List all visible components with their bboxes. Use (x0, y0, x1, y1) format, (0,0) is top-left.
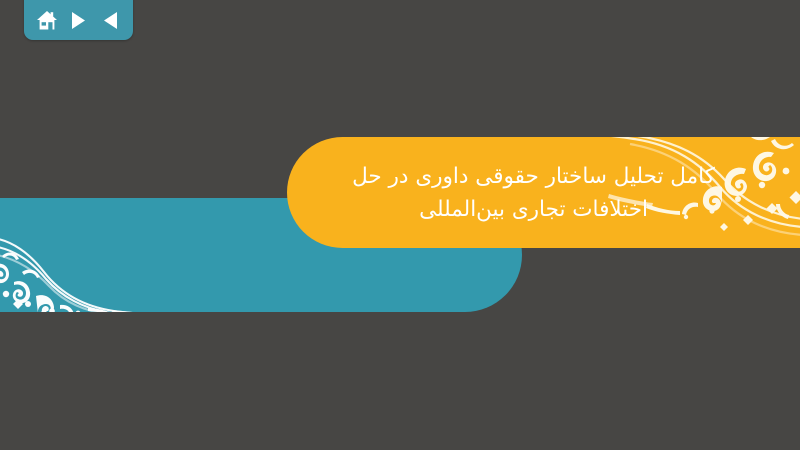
arabesque-corner-ornament-icon (0, 198, 172, 312)
previous-slide-button[interactable] (97, 7, 123, 33)
next-slide-button[interactable] (66, 7, 92, 33)
triangle-left-icon (102, 11, 119, 30)
orange-title-banner: کامل تحلیل ساختار حقوقی داوری در حل اختل… (287, 137, 800, 248)
slide-title-line-2: اختلافات تجاری بین‌المللی (419, 193, 648, 226)
slide-title: کامل تحلیل ساختار حقوقی داوری در حل اختل… (287, 137, 800, 248)
triangle-right-icon (70, 11, 87, 30)
slide-navigation-bar (24, 0, 133, 40)
home-button[interactable] (34, 7, 60, 33)
presentation-slide: کامل تحلیل ساختار حقوقی داوری در حل اختل… (0, 0, 800, 450)
home-icon (36, 10, 58, 31)
slide-title-line-1: کامل تحلیل ساختار حقوقی داوری در حل (352, 160, 715, 193)
